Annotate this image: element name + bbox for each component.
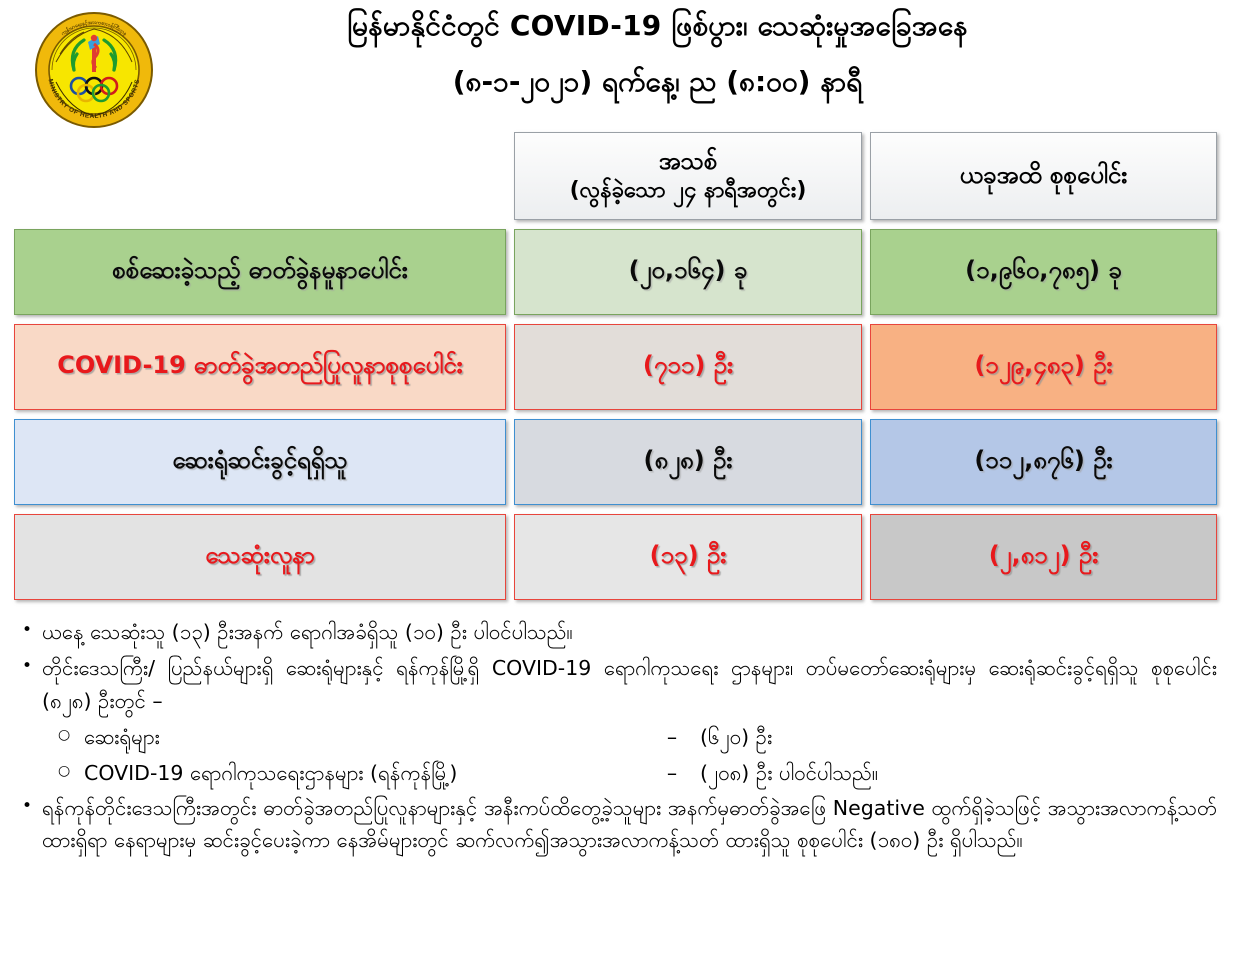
page-title: မြန်မာနိုင်ငံတွင် COVID-19 ဖြစ်ပွား၊ သေဆ… [120,6,1195,47]
footnote-item-discharge-breakdown: • တိုင်းဒေသကြီး/ ပြည်နယ်များရှိ ဆေးရုံမျ… [18,652,1217,717]
discharge-breakdown-list: ○ ဆေးရုံများ – (၆၂၀) ဦး ○ COVID-19 ရောဂါ… [58,721,1217,789]
sub-item-value-treatment-centres: (၂၀၈) ဦး ပါဝင်ပါသည်။ [700,757,1217,789]
value-deaths-new: (၁၃) ဦး [514,514,862,600]
bullet-icon: • [18,792,42,822]
value-discharged-total: (၁၁၂,၈၇၆) ဦး [870,419,1217,505]
value-confirmed-cases-total: (၁၂၉,၄၈၃) ဦး [870,324,1217,410]
sub-item-value-hospitals: (၆၂၀) ဦး [700,721,1217,753]
table-row-samples-tested: စစ်ဆေးခဲ့သည့် ဓာတ်ခွဲနမူနာပေါင်း (၂၀,၁၆၄… [14,229,1221,315]
footnote-item-deaths-comorbidity: • ယနေ့ သေဆုံးသူ (၁၃) ဦးအနက် ရောဂါအခံရှိသ… [18,616,1217,648]
bullet-icon: • [18,652,42,682]
column-header-new: အသစ် (လွန်ခဲ့သော ၂၄ နာရီအတွင်း) [514,132,862,220]
table-row-confirmed-cases: COVID-19 ဓာတ်ခွဲအတည်ပြုလူနာစုစုပေါင်း (၇… [14,324,1221,410]
row-label-discharged: ဆေးရုံဆင်းခွင့်ရရှိသူ [14,419,506,505]
sub-item-dash: – [644,721,700,753]
value-samples-tested-total: (၁,၉၆၀,၇၈၅) ခု [870,229,1217,315]
footnotes-section: • ယနေ့ သေဆုံးသူ (၁၃) ဦးအနက် ရောဂါအခံရှိသ… [18,616,1217,857]
value-samples-tested-new: (၂၀,၁၆၄) ခု [514,229,862,315]
table-row-discharged: ဆေးရုံဆင်းခွင့်ရရှိသူ (၈၂၈) ဦး (၁၁၂,၈၇၆)… [14,419,1221,505]
table-corner-cell [14,132,506,220]
ministry-of-health-logo: ကျန်းမာရေးနှင့်အားကစားဝန်ကြီးဌာန MINISTR… [30,8,158,132]
table-row-deaths: သေဆုံးလူနာ (၁၃) ဦး (၂,၈၁၂) ဦး [14,514,1221,600]
value-deaths-total: (၂,၈၁၂) ဦး [870,514,1217,600]
column-header-new-line1: အသစ် [570,146,807,177]
table-header-row: အသစ် (လွန်ခဲ့သော ၂၄ နာရီအတွင်း) ယခုအထိ စ… [14,132,1221,220]
report-header: ကျန်းမာရေးနှင့်အားကစားဝန်ကြီးဌာန MINISTR… [0,0,1235,132]
column-header-total-label: ယခုအထိ စုစုပေါင်း [960,160,1128,191]
footnote-text-2: တိုင်းဒေသကြီး/ ပြည်နယ်များရှိ ဆေးရုံများ… [42,652,1217,717]
row-label-samples-tested: စစ်ဆေးခဲ့သည့် ဓာတ်ခွဲနမူနာပေါင်း [14,229,506,315]
footnote-item-yangon-quarantine: • ရန်ကုန်တိုင်းဒေသကြီးအတွင်း ဓာတ်ခွဲအတည်… [18,792,1217,857]
footnote-text-1: ယနေ့ သေဆုံးသူ (၁၃) ဦးအနက် ရောဂါအခံရှိသူ … [42,616,1217,648]
bullet-icon: • [18,616,42,646]
footnote-text-3: ရန်ကုန်တိုင်းဒေသကြီးအတွင်း ဓာတ်ခွဲအတည်ပြ… [42,792,1217,857]
row-label-deaths: သေဆုံးလူနာ [14,514,506,600]
column-header-total: ယခုအထိ စုစုပေါင်း [870,132,1217,220]
covid-summary-table: အသစ် (လွန်ခဲ့သော ၂၄ နာရီအတွင်း) ယခုအထိ စ… [14,132,1221,600]
report-datetime: (၈-၁-၂၀၂၁) ရက်နေ့၊ ည (၈:၀၀) နာရီ [120,61,1195,103]
list-item: ○ ဆေးရုံများ – (၆၂၀) ဦး [58,721,1217,753]
value-confirmed-cases-new: (၇၁၁) ဦး [514,324,862,410]
sub-bullet-icon: ○ [58,721,84,750]
sub-bullet-icon: ○ [58,757,84,786]
sub-item-label-hospitals: ဆေးရုံများ [84,721,644,753]
list-item: ○ COVID-19 ရောဂါကုသရေးဌာနများ (ရန်ကုန်မြ… [58,757,1217,789]
value-discharged-new: (၈၂၈) ဦး [514,419,862,505]
column-header-new-line2: (လွန်ခဲ့သော ၂၄ နာရီအတွင်း) [570,177,807,206]
sub-item-dash: – [644,757,700,789]
sub-item-label-treatment-centres: COVID-19 ရောဂါကုသရေးဌာနများ (ရန်ကုန်မြို… [84,757,644,789]
row-label-confirmed-cases: COVID-19 ဓာတ်ခွဲအတည်ပြုလူနာစုစုပေါင်း [14,324,506,410]
